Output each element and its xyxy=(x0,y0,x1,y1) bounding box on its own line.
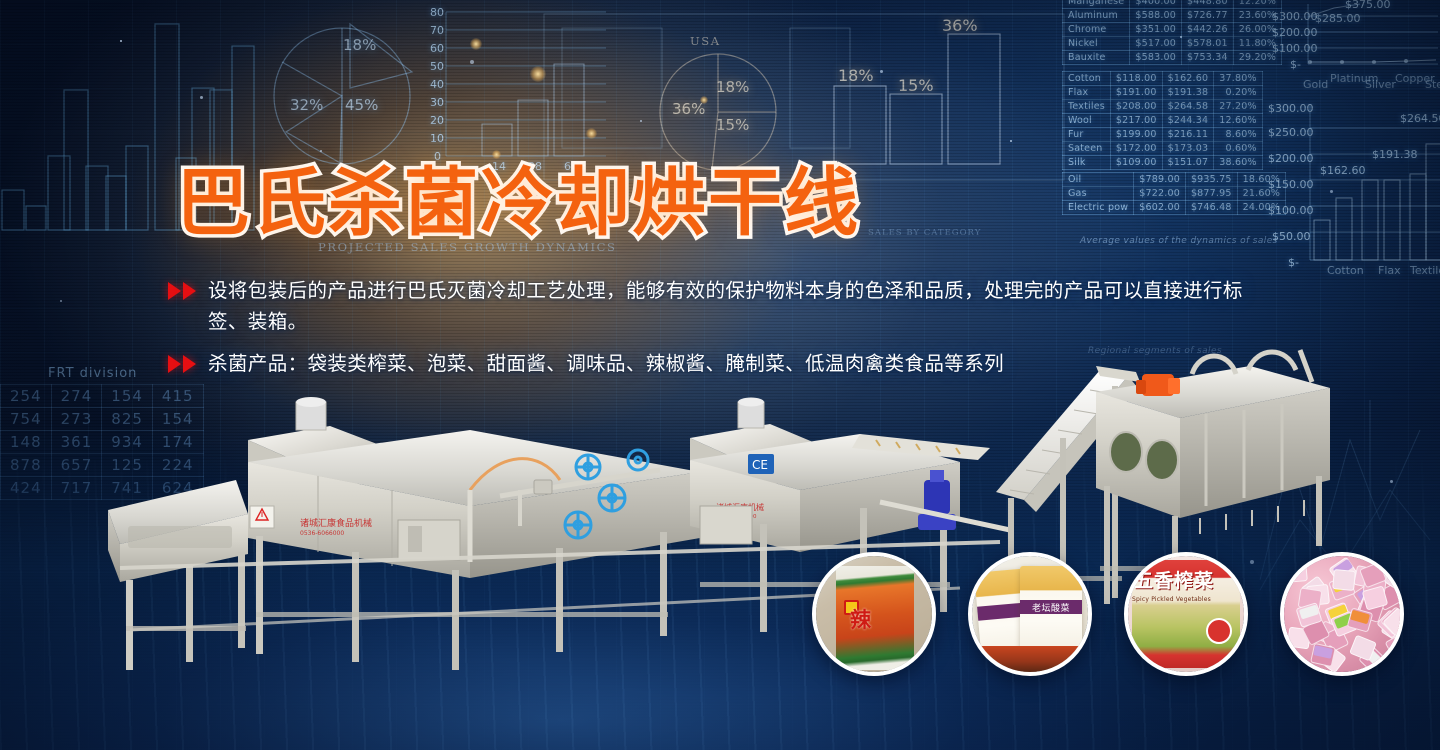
product-label-2: 老坛酸菜 xyxy=(1020,601,1082,614)
bullet-item-process: 设将包装后的产品进行巴氏灭菌冷却工艺处理，能够有效的保护物料本身的色泽和品质，处… xyxy=(168,276,1273,338)
machine-section-pasteurizer: 诸城汇康食品机械 0536-6066000 xyxy=(248,397,700,670)
product-label-1: 辣 xyxy=(850,604,871,634)
page-title: 巴氏杀菌冷却烘干线 xyxy=(176,166,860,240)
double-triangle-icon xyxy=(168,276,208,300)
machine-section-infeed xyxy=(108,480,248,670)
product-thumbnail-five-spice-pickle[interactable]: 五香榨菜 Spicy Pickled Vegetables xyxy=(1124,552,1248,676)
jelly-cup xyxy=(1285,561,1309,583)
inspection-window xyxy=(1146,440,1178,480)
double-triangle-icon xyxy=(168,349,208,373)
ce-marking-badge: CE xyxy=(748,454,774,474)
bullet-item-products: 杀菌产品：袋装类榨菜、泡菜、甜面酱、调味品、辣椒酱、腌制菜、低温肉禽类食品等系列 xyxy=(168,349,1273,380)
product-thumbnail-spicy-snack[interactable]: 辣 xyxy=(812,552,936,676)
product-label-3-en: Spicy Pickled Vegetables xyxy=(1132,596,1211,603)
product-label-3: 五香榨菜 xyxy=(1134,566,1214,593)
svg-text:0536-6066000: 0536-6066000 xyxy=(300,530,344,537)
svg-text:诸城汇康食品机械: 诸城汇康食品机械 xyxy=(300,517,372,529)
jelly-cup xyxy=(1332,569,1356,591)
product-thumbnail-pickled-cabbage[interactable]: 老坛酸菜 xyxy=(968,552,1092,676)
svg-text:CE: CE xyxy=(752,458,768,472)
product-thumbnail-row: 辣 老坛酸菜 五香榨菜 Spicy Pickled Vegetables xyxy=(812,552,1404,676)
product-thumbnail-jelly-cups[interactable] xyxy=(1280,552,1404,676)
feature-bullet-list: 设将包装后的产品进行巴氏灭菌冷却工艺处理，能够有效的保护物料本身的色泽和品质，处… xyxy=(168,276,1273,390)
inspection-window xyxy=(1110,432,1142,472)
promo-banner: 18% 45% 32% 80 70 60 50 40 30 20 10 0 14… xyxy=(0,0,1440,750)
machine-warning-label xyxy=(250,506,274,528)
bullet-text-process: 设将包装后的产品进行巴氏灭菌冷却工艺处理，能够有效的保护物料本身的色泽和品质，处… xyxy=(208,276,1273,338)
bullet-text-products: 杀菌产品：袋装类榨菜、泡菜、甜面酱、调味品、辣椒酱、腌制菜、低温肉禽类食品等系列 xyxy=(208,349,1273,380)
